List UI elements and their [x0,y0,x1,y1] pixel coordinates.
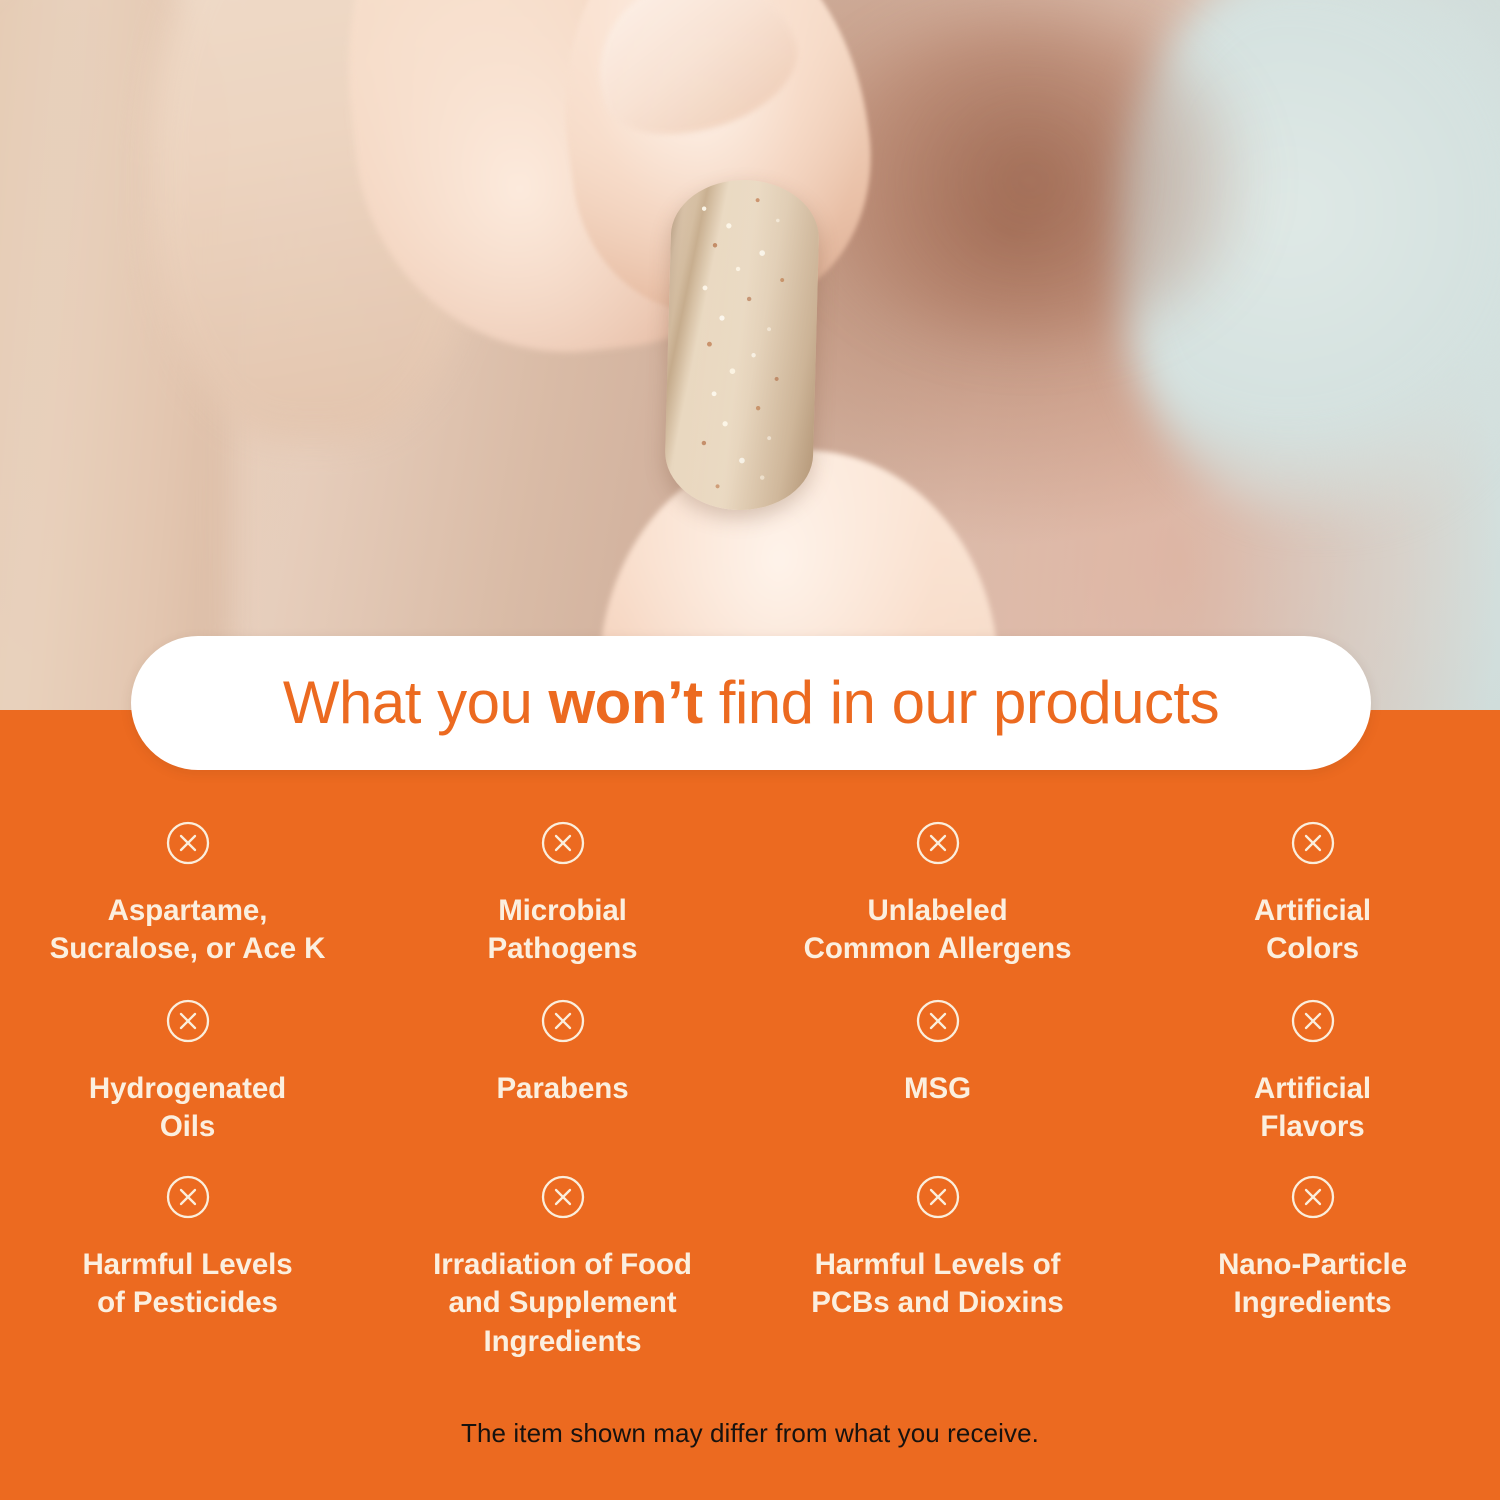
page-title-part1: What you [283,669,549,736]
grid-cell: Hydrogenated Oils [0,998,375,1174]
circle-x-icon [165,998,211,1044]
circle-x-icon [1290,1174,1336,1220]
grid-cell: Artificial Flavors [1125,998,1500,1174]
disclaimer-text: The item shown may differ from what you … [0,1418,1500,1449]
grid-cell-label: MSG [904,1070,971,1108]
grid-cell: Harmful Levels of Pesticides [0,1174,375,1374]
grid-cell-label: Unlabeled Common Allergens [804,892,1072,969]
grid-cell-label: Artificial Colors [1254,892,1371,969]
grid-cell: Unlabeled Common Allergens [750,820,1125,998]
grid-cell-label: Irradiation of Food and Supplement Ingre… [433,1246,692,1361]
grid-cell-label: Harmful Levels of Pesticides [82,1246,292,1323]
grid-cell: Irradiation of Food and Supplement Ingre… [375,1174,750,1374]
circle-x-icon [540,820,586,866]
grid-cell: Nano-Particle Ingredients [1125,1174,1500,1374]
grid-cell: Artificial Colors [1125,820,1500,998]
circle-x-icon [915,998,961,1044]
grid-cell-label: Aspartame, Sucralose, or Ace K [50,892,326,969]
circle-x-icon [165,1174,211,1220]
grid-cell: MSG [750,998,1125,1174]
supplement-tablet [664,178,821,512]
page-title-emphasis: won’t [549,669,703,736]
title-card: What you won’t find in our products [131,636,1371,770]
grid-cell-label: Microbial Pathogens [488,892,638,969]
circle-x-icon [165,820,211,866]
grid-cell-label: Hydrogenated Oils [89,1070,286,1147]
grid-cell-label: Artificial Flavors [1254,1070,1371,1147]
grid-cell: Aspartame, Sucralose, or Ace K [0,820,375,998]
circle-x-icon [1290,820,1336,866]
hero-photo [0,0,1500,710]
product-claims-poster: What you won’t find in our products Aspa… [0,0,1500,1500]
grid-cell-label: Nano-Particle Ingredients [1218,1246,1407,1323]
grid-cell-label: Harmful Levels of PCBs and Dioxins [811,1246,1063,1323]
grid-cell: Microbial Pathogens [375,820,750,998]
grid-cell: Parabens [375,998,750,1174]
circle-x-icon [1290,998,1336,1044]
circle-x-icon [540,1174,586,1220]
page-title-part2: find in our products [703,669,1219,736]
excluded-ingredients-grid: Aspartame, Sucralose, or Ace K Microbial… [0,820,1500,1374]
grid-cell-label: Parabens [496,1070,628,1108]
circle-x-icon [915,820,961,866]
circle-x-icon [540,998,586,1044]
page-title: What you won’t find in our products [283,673,1219,733]
grid-cell: Harmful Levels of PCBs and Dioxins [750,1174,1125,1374]
circle-x-icon [915,1174,961,1220]
